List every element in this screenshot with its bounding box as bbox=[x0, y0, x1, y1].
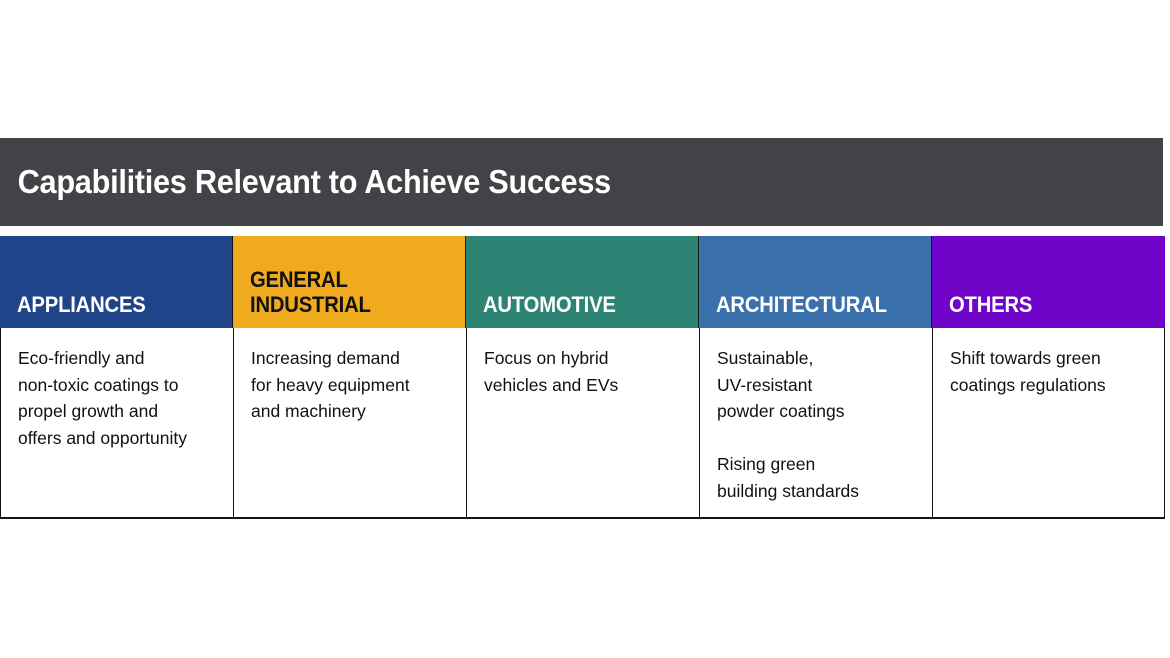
title-bar: Capabilities Relevant to Achieve Success bbox=[0, 138, 1163, 226]
table-column-general-industrial: GENERAL INDUSTRIAL Increasing demand for… bbox=[233, 236, 466, 519]
column-body-appliances: Eco-friendly and non-toxic coatings to p… bbox=[0, 328, 233, 519]
table-column-appliances: APPLIANCES Eco-friendly and non-toxic co… bbox=[0, 236, 233, 519]
page-title: Capabilities Relevant to Achieve Success bbox=[0, 163, 611, 201]
column-header-label: AUTOMOTIVE bbox=[483, 293, 616, 318]
column-header-general-industrial: GENERAL INDUSTRIAL bbox=[233, 236, 466, 328]
slide-canvas: Capabilities Relevant to Achieve Success… bbox=[0, 0, 1170, 658]
table-column-others: OTHERS Shift towards green coatings regu… bbox=[932, 236, 1165, 519]
column-header-label: OTHERS bbox=[949, 293, 1032, 318]
table-column-architectural: ARCHITECTURAL Sustainable, UV-resistant … bbox=[699, 236, 932, 519]
column-body-architectural: Sustainable, UV-resistant powder coating… bbox=[699, 328, 932, 519]
column-header-label: ARCHITECTURAL bbox=[716, 293, 887, 318]
column-header-label: APPLIANCES bbox=[17, 293, 146, 318]
table-column-automotive: AUTOMOTIVE Focus on hybrid vehicles and … bbox=[466, 236, 699, 519]
column-header-automotive: AUTOMOTIVE bbox=[466, 236, 699, 328]
column-body-automotive: Focus on hybrid vehicles and EVs bbox=[466, 328, 699, 519]
column-header-others: OTHERS bbox=[932, 236, 1165, 328]
column-header-label: GENERAL INDUSTRIAL bbox=[250, 268, 371, 318]
capabilities-table: APPLIANCES Eco-friendly and non-toxic co… bbox=[0, 236, 1165, 519]
column-body-general-industrial: Increasing demand for heavy equipment an… bbox=[233, 328, 466, 519]
column-header-architectural: ARCHITECTURAL bbox=[699, 236, 932, 328]
column-body-others: Shift towards green coatings regulations bbox=[932, 328, 1165, 519]
column-header-appliances: APPLIANCES bbox=[0, 236, 233, 328]
